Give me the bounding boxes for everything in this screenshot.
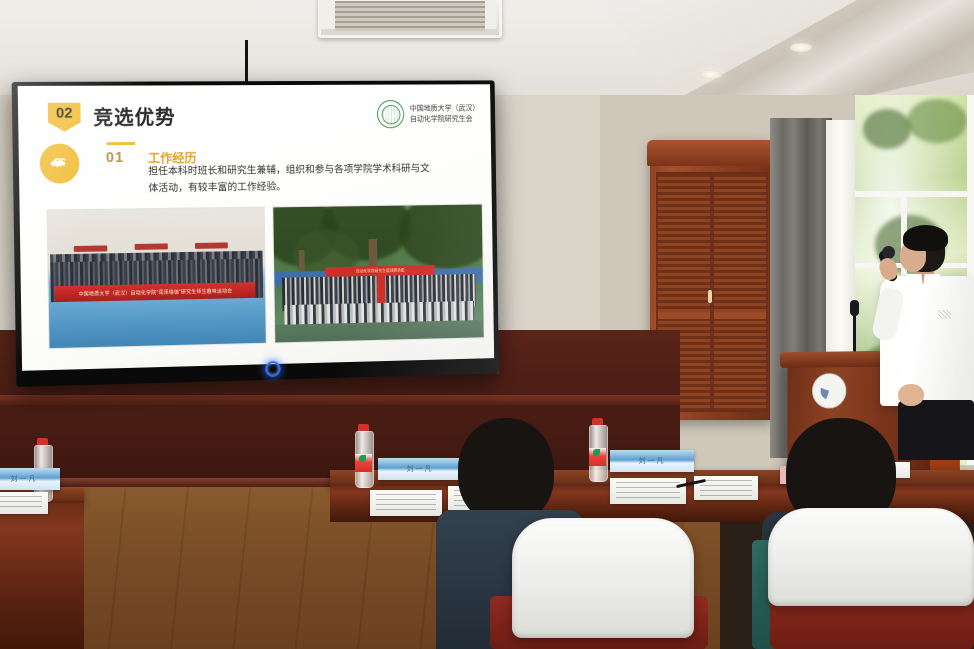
downlight-1 [790, 43, 812, 52]
title-rule [107, 142, 135, 145]
screen-power-led-icon[interactable] [265, 361, 281, 377]
cabinet-handle[interactable] [708, 290, 712, 303]
name-card-right-text: 刘一凡 [639, 456, 666, 466]
slide-section-title: 竞选优势 [93, 101, 176, 130]
item-body-text: 担任本科时班长和研究生兼辅，组织和参与各项学院学术科研与文体活动，有较丰富的工作… [148, 162, 434, 198]
brand-line-2: 自动化学院研究生会 [410, 114, 480, 125]
handshake-icon [39, 143, 79, 183]
name-card-left-text: 刘一凡 [11, 474, 38, 484]
university-seal-icon [377, 100, 405, 128]
screen-bezel: 02 竞选优势 中国地质大学（武汉） 自动化学院研究生会 [18, 84, 495, 371]
organization-brand: 中国地质大学（武汉） 自动化学院研究生会 [377, 100, 480, 129]
microphone-head-1 [850, 300, 859, 316]
presentation-screen[interactable]: 02 竞选优势 中国地质大学（武汉） 自动化学院研究生会 [12, 80, 499, 387]
water-bottle-right[interactable] [588, 418, 607, 480]
name-card-center-text: 刘一凡 [407, 464, 434, 474]
name-card-center: 刘一凡 [378, 458, 462, 480]
conference-table-left-body [0, 503, 84, 649]
slide-section-number: 02 [48, 103, 81, 132]
presenter-trousers [898, 400, 974, 460]
water-bottle-center[interactable] [354, 424, 373, 486]
ceiling-air-vent-icon [318, 0, 502, 38]
presenter-hair [903, 225, 948, 251]
paper-right-1 [610, 478, 686, 504]
white-chair-cover-right[interactable] [768, 508, 974, 606]
conference-room-scene: 02 竞选优势 中国地质大学（武汉） 自动化学院研究生会 [0, 0, 974, 649]
brand-line-1: 中国地质大学（武汉） [410, 103, 480, 114]
item-number: 01 [106, 149, 125, 166]
paper-left [0, 492, 48, 514]
slide-content: 02 竞选优势 中国地质大学（武汉） 自动化学院研究生会 [18, 84, 495, 371]
wall-rail-upper [0, 395, 680, 405]
university-emblem-icon [812, 373, 846, 409]
name-card-left: 刘一凡 [0, 468, 60, 490]
downlight-2 [700, 70, 722, 79]
gymnasium-group-photo: 中国地质大学（武汉）自动化学院"润泽珞珈"研究生师生趣味运动会 [46, 207, 266, 350]
presenter-resting-hand [898, 384, 924, 406]
cabinet-cornice [647, 140, 775, 166]
outdoor-court-group-photo: 自动化学院研究生篮球赛合影 [272, 204, 484, 344]
paper-center-1 [370, 490, 442, 516]
slide-photo-row: 中国地质大学（武汉）自动化学院"润泽珞珈"研究生师生趣味运动会 自动化 [46, 204, 484, 350]
cabinet-door-right[interactable] [712, 172, 768, 412]
name-card-right: 刘一凡 [610, 450, 694, 472]
white-chair-cover-center[interactable] [512, 518, 694, 638]
